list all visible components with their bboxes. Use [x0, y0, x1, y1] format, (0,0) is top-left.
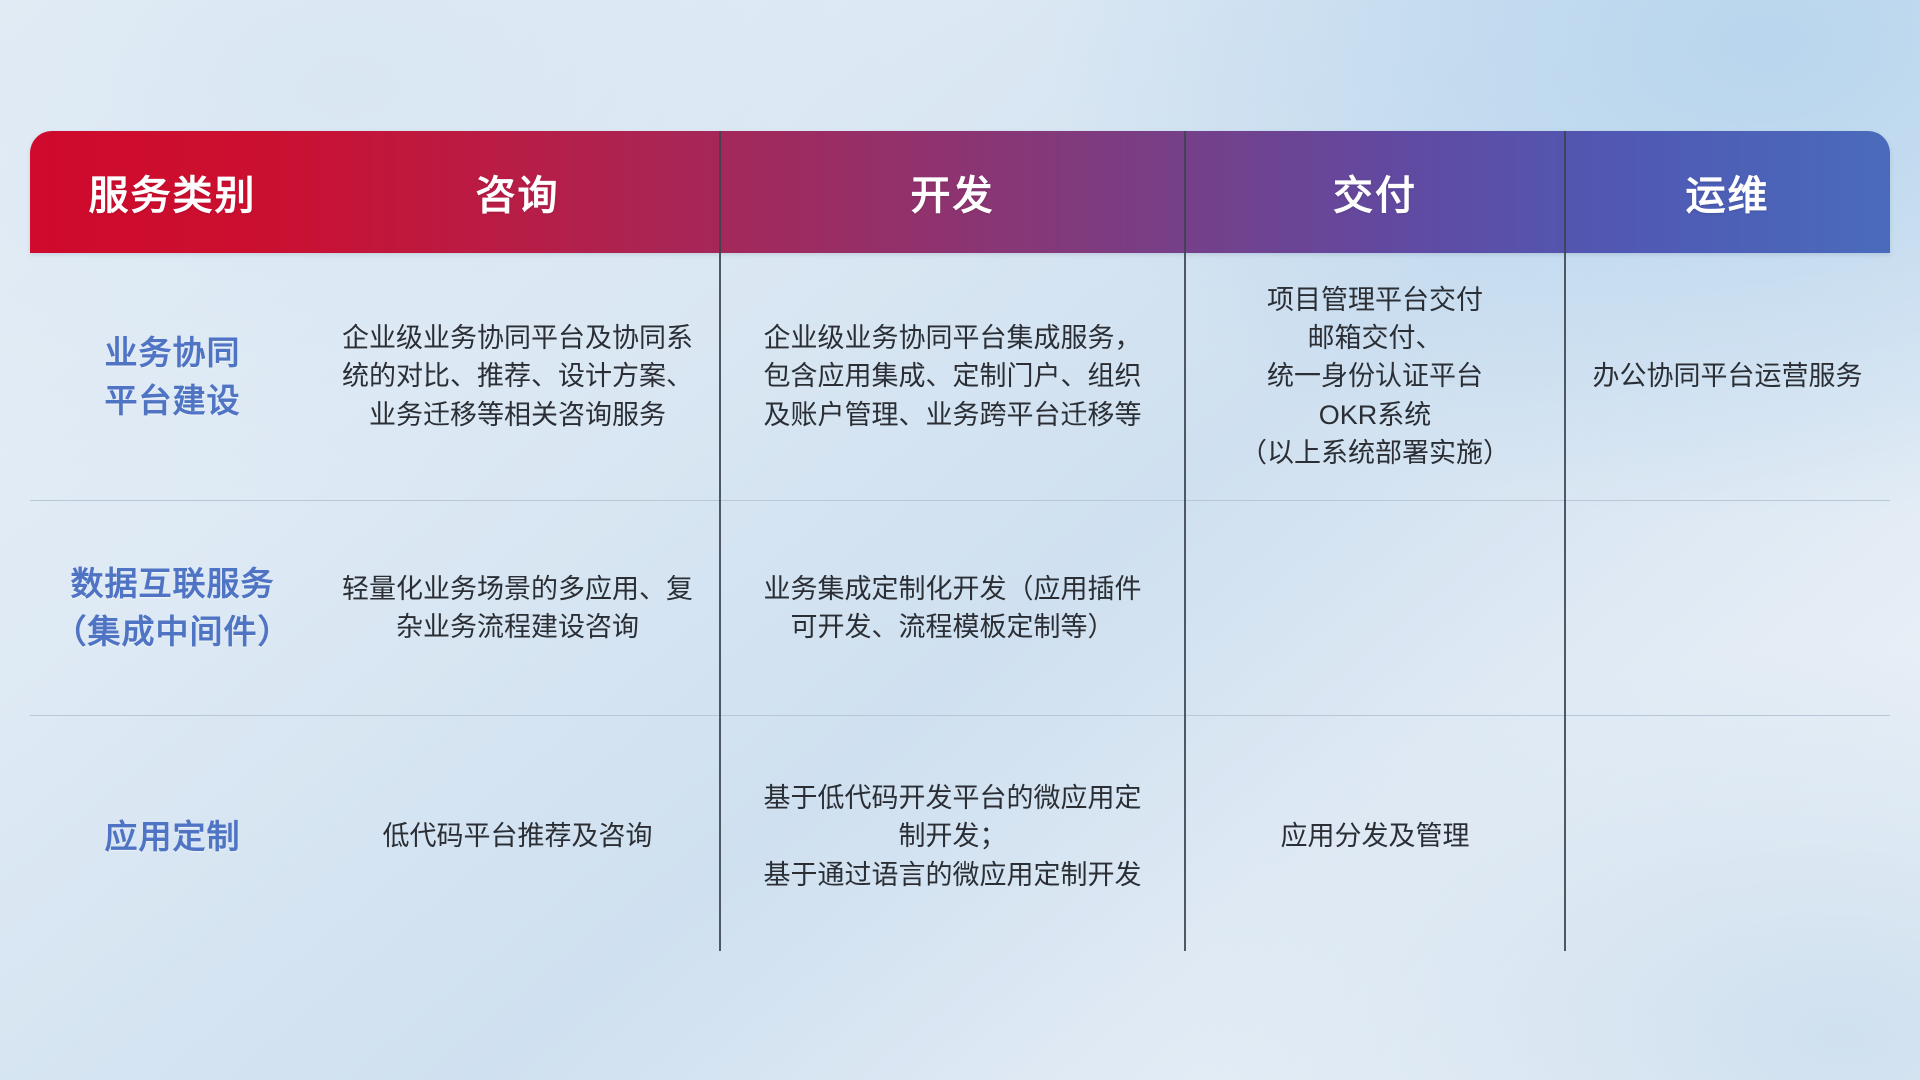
cell-development: 企业级业务协同平台集成服务， 包含应用集成、定制门户、组织 及账户管理、业务跨平…	[720, 253, 1185, 500]
cell-delivery: 应用分发及管理	[1185, 715, 1565, 957]
column-divider-1	[719, 131, 721, 951]
table-body: 业务协同 平台建设 企业级业务协同平台及协同系 统的对比、推荐、设计方案、 业务…	[30, 253, 1890, 957]
header-cell-delivery: 交付	[1185, 131, 1565, 253]
row-category-label: 数据互联服务 （集成中间件）	[30, 500, 315, 715]
cell-operations	[1565, 500, 1890, 715]
header-cell-consulting: 咨询	[315, 131, 720, 253]
cell-operations: 办公协同平台运营服务	[1565, 253, 1890, 500]
table-row: 应用定制 低代码平台推荐及咨询 基于低代码开发平台的微应用定 制开发； 基于通过…	[30, 715, 1890, 957]
cell-development: 业务集成定制化开发（应用插件 可开发、流程模板定制等）	[720, 500, 1185, 715]
cell-delivery: 项目管理平台交付 邮箱交付、 统一身份认证平台 OKR系统 （以上系统部署实施）	[1185, 253, 1565, 500]
slide-canvas: 服务类别 咨询 开发 交付 运维 业务协同 平台建设 企业级业务协同平台及协同系…	[0, 0, 1920, 1080]
column-divider-2	[1184, 131, 1186, 951]
header-cell-development: 开发	[720, 131, 1185, 253]
table-header-row: 服务类别 咨询 开发 交付 运维	[30, 131, 1890, 253]
table-row: 业务协同 平台建设 企业级业务协同平台及协同系 统的对比、推荐、设计方案、 业务…	[30, 253, 1890, 500]
row-category-label: 业务协同 平台建设	[30, 253, 315, 500]
cell-development: 基于低代码开发平台的微应用定 制开发； 基于通过语言的微应用定制开发	[720, 715, 1185, 957]
cell-delivery	[1185, 500, 1565, 715]
service-matrix-table: 服务类别 咨询 开发 交付 运维 业务协同 平台建设 企业级业务协同平台及协同系…	[30, 131, 1890, 951]
cell-operations	[1565, 715, 1890, 957]
header-cell-operations: 运维	[1565, 131, 1890, 253]
cell-consulting: 低代码平台推荐及咨询	[315, 715, 720, 957]
cell-consulting: 企业级业务协同平台及协同系 统的对比、推荐、设计方案、 业务迁移等相关咨询服务	[315, 253, 720, 500]
column-divider-3	[1564, 131, 1566, 951]
header-cell-category: 服务类别	[30, 131, 315, 253]
row-category-label: 应用定制	[30, 715, 315, 957]
table-row: 数据互联服务 （集成中间件） 轻量化业务场景的多应用、复 杂业务流程建设咨询 业…	[30, 500, 1890, 715]
cell-consulting: 轻量化业务场景的多应用、复 杂业务流程建设咨询	[315, 500, 720, 715]
